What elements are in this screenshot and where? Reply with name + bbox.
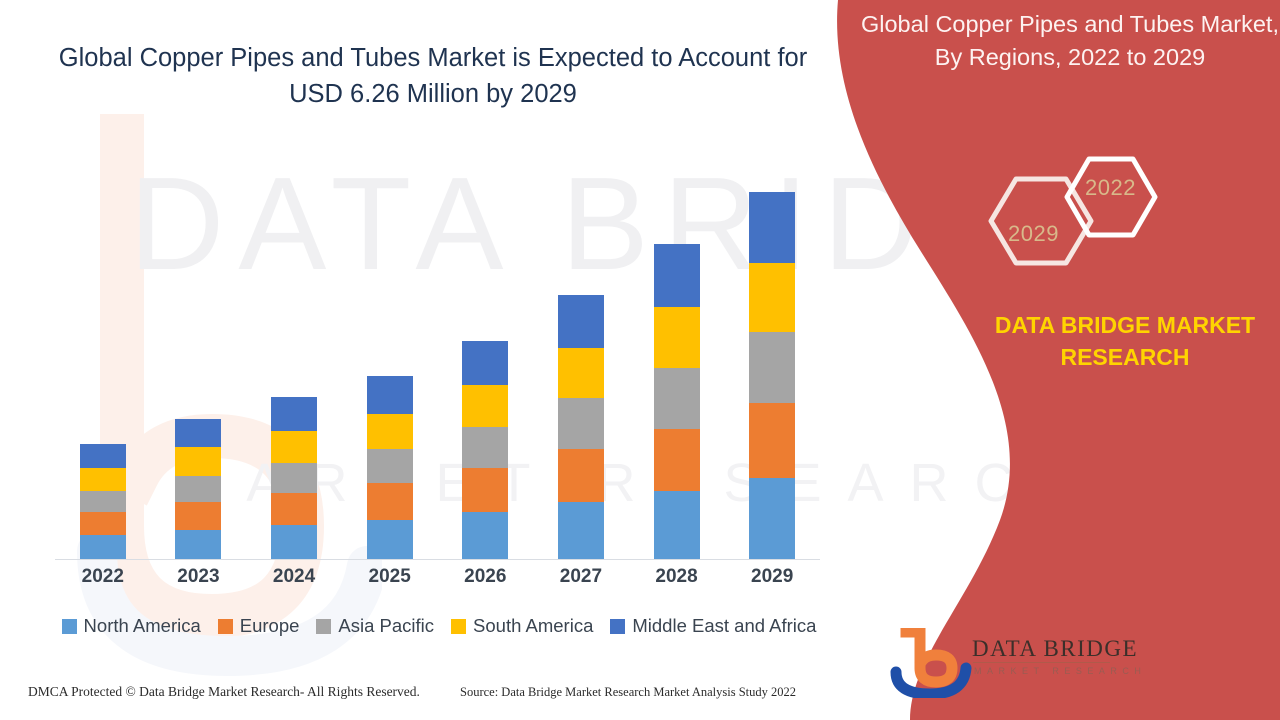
legend-label-asia-pacific: Asia Pacific [338,615,434,637]
bar-2029 [749,192,795,559]
bar-segment-2023-asia-pacific [175,476,221,501]
bar-segment-2026-asia-pacific [462,427,508,468]
x-tick-2022: 2022 [58,566,148,588]
bar-segment-2025-south-america [367,414,413,450]
bar-segment-2025-asia-pacific [367,449,413,483]
bar-segment-2029-europe [749,403,795,477]
x-tick-2029: 2029 [727,566,817,588]
bar-segment-2028-asia-pacific [654,368,700,429]
x-tick-2024: 2024 [249,566,339,588]
legend-label-europe: Europe [240,615,300,637]
panel-title: Global Copper Pipes and Tubes Market, By… [860,8,1280,75]
bar-segment-2026-middle-east-and-africa [462,341,508,385]
bar-segment-2024-europe [271,493,317,525]
bar-segment-2025-north-america [367,520,413,559]
bar-segment-2024-middle-east-and-africa [271,397,317,431]
bar-segment-2026-south-america [462,385,508,427]
hexagon-label-2022: 2022 [1085,175,1136,201]
bar-2024 [271,397,317,559]
x-axis-line [55,559,820,560]
legend-label-middle-east-and-africa: Middle East and Africa [632,615,816,637]
bar-segment-2024-south-america [271,431,317,463]
bar-segment-2029-south-america [749,263,795,332]
legend-item-asia-pacific[interactable]: Asia Pacific [316,615,434,637]
logo-divider [973,662,1110,663]
bar-segment-2029-asia-pacific [749,332,795,403]
bar-segment-2026-europe [462,468,508,512]
legend-item-middle-east-and-africa[interactable]: Middle East and Africa [610,615,816,637]
bar-segment-2024-asia-pacific [271,463,317,493]
bar-segment-2023-middle-east-and-africa [175,419,221,448]
bar-segment-2023-north-america [175,530,221,559]
bar-2026 [462,341,508,559]
bar-segment-2029-north-america [749,478,795,559]
x-axis-labels: 20222023202420252026202720282029 [55,566,820,596]
bar-2028 [654,244,700,559]
x-tick-2028: 2028 [632,566,722,588]
chart-plot-area [55,170,820,560]
legend-item-north-america[interactable]: North America [62,615,201,637]
logo-tagline: MARKET RESEARCH [974,666,1146,676]
source-note: Source: Data Bridge Market Research Mark… [460,685,796,700]
bar-segment-2027-middle-east-and-africa [558,295,604,347]
bar-2022 [80,444,126,559]
bar-segment-2027-north-america [558,502,604,560]
legend-item-europe[interactable]: Europe [218,615,300,637]
hexagon-label-2029: 2029 [1008,221,1059,247]
bar-segment-2028-north-america [654,491,700,559]
chart-legend: North AmericaEuropeAsia PacificSouth Ame… [55,615,823,637]
x-tick-2025: 2025 [345,566,435,588]
legend-swatch-asia-pacific [316,619,331,634]
brand-name: DATA BRIDGE MARKET RESEARCH [975,310,1275,373]
legend-item-south-america[interactable]: South America [451,615,593,637]
bar-segment-2023-south-america [175,447,221,476]
legend-swatch-europe [218,619,233,634]
bar-2023 [175,419,221,559]
page-title: Global Copper Pipes and Tubes Market is … [48,40,818,112]
bar-segment-2025-middle-east-and-africa [367,376,413,413]
bar-segment-2027-asia-pacific [558,398,604,449]
bar-segment-2023-europe [175,502,221,531]
logo-wordmark: DATA BRIDGE [972,636,1138,662]
bar-segment-2022-middle-east-and-africa [80,444,126,468]
legend-label-south-america: South America [473,615,593,637]
x-tick-2026: 2026 [440,566,530,588]
bar-segment-2022-europe [80,512,126,536]
bar-segment-2022-north-america [80,535,126,559]
bar-segment-2028-middle-east-and-africa [654,244,700,307]
bar-segment-2025-europe [367,483,413,520]
bar-2025 [367,376,413,559]
bar-segment-2024-north-america [271,525,317,559]
legend-swatch-middle-east-and-africa [610,619,625,634]
bar-segment-2028-europe [654,429,700,492]
dmca-notice: DMCA Protected © Data Bridge Market Rese… [28,684,420,700]
hexagon-group: 2029 2022 [985,155,1185,290]
bar-segment-2028-south-america [654,307,700,368]
bar-segment-2029-middle-east-and-africa [749,192,795,263]
legend-swatch-north-america [62,619,77,634]
infographic-page: DATA BRIDGE MARKET RESEARCH Global Coppe… [0,0,1280,720]
bar-segment-2027-europe [558,449,604,501]
bar-segment-2022-asia-pacific [80,491,126,511]
bar-segment-2022-south-america [80,468,126,492]
bar-segment-2026-north-america [462,512,508,559]
legend-swatch-south-america [451,619,466,634]
bar-2027 [558,295,604,559]
x-tick-2023: 2023 [153,566,243,588]
legend-label-north-america: North America [84,615,201,637]
data-bridge-logo: DATA BRIDGE MARKET RESEARCH [890,628,1120,698]
x-tick-2027: 2027 [536,566,626,588]
bar-segment-2027-south-america [558,348,604,399]
